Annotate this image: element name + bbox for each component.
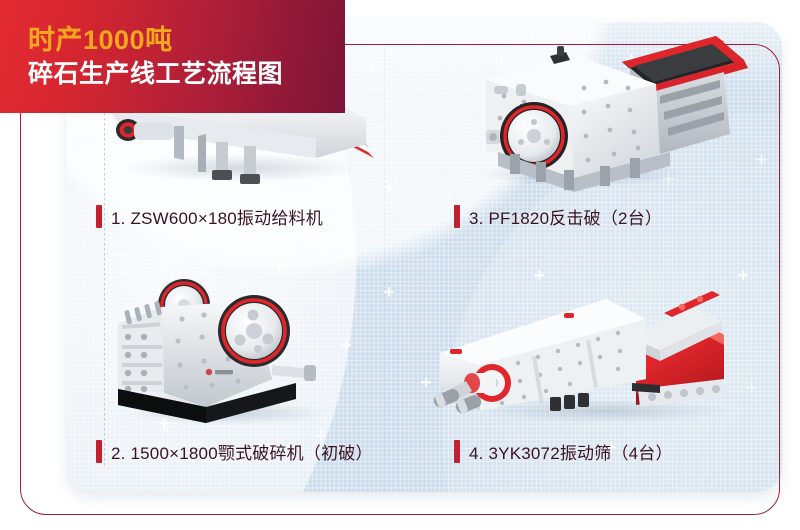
label-accent-bar bbox=[454, 205, 460, 228]
machine-label-text: 4. 3YK3072振动筛（4台） bbox=[469, 439, 673, 464]
machine-label-text: 3. PF1820反击破（2台） bbox=[469, 204, 662, 229]
title-banner: 时产1000吨 碎石生产线工艺流程图 bbox=[0, 0, 345, 113]
machine-cell-4[interactable]: 4. 3YK3072振动筛（4台） bbox=[424, 257, 782, 492]
machine-label-4: 4. 3YK3072振动筛（4台） bbox=[454, 439, 673, 464]
machine-label-1: 1. ZSW600×180振动给料机 bbox=[96, 204, 323, 229]
title-line-1: 时产1000吨 bbox=[28, 24, 283, 57]
label-accent-bar bbox=[96, 440, 102, 463]
impact-crusher-image bbox=[424, 26, 782, 198]
title-banner-text: 时产1000吨 碎石生产线工艺流程图 bbox=[28, 24, 283, 91]
title-line-2: 碎石生产线工艺流程图 bbox=[28, 59, 283, 91]
machine-cell-3[interactable]: 3. PF1820反击破（2台） bbox=[424, 22, 782, 257]
machine-label-text: 1. ZSW600×180振动给料机 bbox=[111, 204, 323, 229]
label-accent-bar bbox=[96, 205, 102, 228]
vibrating-screen-image bbox=[424, 261, 782, 433]
jaw-crusher-image bbox=[66, 261, 424, 433]
machine-label-2: 2. 1500×1800颚式破碎机（初破） bbox=[96, 439, 373, 464]
poster-root: 1. ZSW600×180振动给料机 bbox=[0, 0, 800, 530]
machine-cell-2[interactable]: 2. 1500×1800颚式破碎机（初破） bbox=[66, 257, 424, 492]
label-accent-bar bbox=[454, 440, 460, 463]
machine-label-3: 3. PF1820反击破（2台） bbox=[454, 204, 662, 229]
machine-label-text: 2. 1500×1800颚式破碎机（初破） bbox=[111, 439, 373, 464]
